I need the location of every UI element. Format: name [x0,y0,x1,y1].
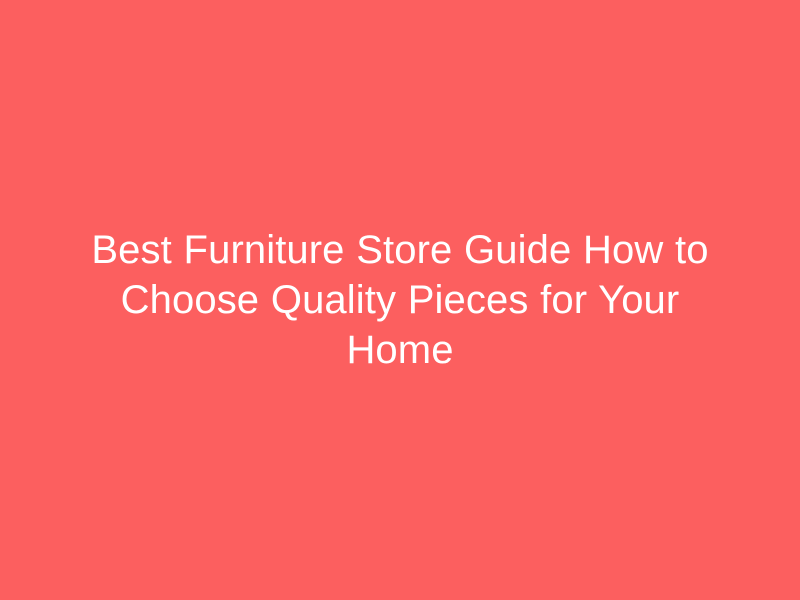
page-title: Best Furniture Store Guide How to Choose… [80,225,720,375]
headline-block: Best Furniture Store Guide How to Choose… [70,225,730,375]
title-card: Best Furniture Store Guide How to Choose… [0,0,800,600]
